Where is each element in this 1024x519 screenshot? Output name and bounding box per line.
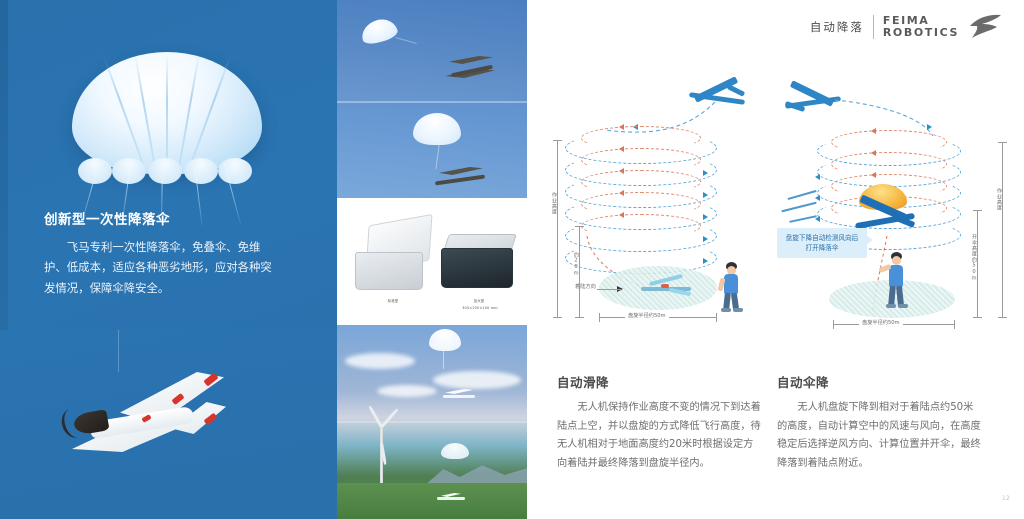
container-box-large: [441, 234, 519, 296]
parachute-illustration: [52, 52, 282, 227]
drone-in-flight-photo: 11: [0, 330, 337, 519]
section-body-parachute: 无人机盘旋下降到相对于着陆点约50米的高度，自动计算空中的风速与风向，在高度稳定…: [777, 399, 983, 473]
drone-illustration: [54, 368, 234, 463]
left-text-block: 创新型一次性降落伞 飞马专利一次性降落伞，免叠伞、免维护、低成本，适应各种恶劣地…: [44, 208, 274, 298]
left-page: 创新型一次性降落伞 飞马专利一次性降落伞，免叠伞、免维护、低成本，适应各种恶劣地…: [0, 0, 527, 519]
brand-divider: [873, 15, 874, 39]
parachute-container-photo: 标准型 加大型 300×200×100 mm: [337, 198, 527, 325]
field-landing-photo: [337, 325, 527, 519]
feima-wing-mark-icon: [968, 14, 1002, 40]
photo-column: 标准型 加大型 300×200×100 mm: [337, 0, 527, 519]
section-auto-glide: 自动滑降 无人机保持作业高度不变的情况下到达着陆点上空，并以盘旋的方式降低飞行高…: [557, 372, 763, 473]
section-heading-glide: 自动滑降: [557, 372, 763, 391]
brand-en-line2: ROBOTICS: [883, 27, 959, 39]
right-page: 自动降落 FEIMA ROBOTICS: [527, 0, 1024, 519]
container-caption-right: 加大型: [449, 298, 509, 303]
brochure-spread: 创新型一次性降落伞 飞马专利一次性降落伞，免叠伞、免维护、低成本，适应各种恶劣地…: [0, 0, 1024, 519]
brand-cn-label: 自动降落: [810, 19, 864, 35]
glide-work-height-label: 作业高度: [551, 192, 558, 215]
section-auto-parachute: 自动伞降 无人机盘旋下降到相对于着陆点约50米的高度，自动计算空中的风速与风向，…: [777, 372, 983, 473]
glide-low-height-label: 约20m: [573, 252, 580, 277]
brand-en-label: FEIMA ROBOTICS: [883, 15, 959, 40]
parachute-callout: 盘旋下降自动检测风向后打开降落伞: [777, 228, 867, 258]
parachute-canopy: [72, 52, 262, 174]
auto-parachute-diagram: 盘旋下降自动检测风向后打开降落伞 作业高度: [777, 84, 1017, 334]
left-title: 创新型一次性降落伞: [44, 208, 274, 228]
auto-glide-diagram: 着陆方向 作业高度 约20m 盘旋半径约50m: [547, 84, 775, 334]
glide-radius-label: 盘旋半径约50m: [625, 312, 669, 319]
container-caption-left: 标准型: [363, 298, 423, 303]
section-heading-parachute: 自动伞降: [777, 372, 983, 391]
brand-header: 自动降落 FEIMA ROBOTICS: [810, 14, 1002, 40]
section-body-glide: 无人机保持作业高度不变的情况下到达着陆点上空，并以盘旋的方式降低飞行高度，待无人…: [557, 399, 763, 473]
person-figure-left: [717, 262, 747, 314]
container-caption-spec: 300×200×100 mm: [441, 306, 519, 310]
parachute-open-photo: [337, 101, 527, 198]
container-box-standard: [353, 220, 433, 294]
parachute-open-height-label: 开伞高度约50m: [971, 234, 978, 282]
left-body: 飞马专利一次性降落伞，免叠伞、免维护、低成本，适应各种恶劣地形，应对各种突发情况…: [44, 237, 274, 298]
landing-plane-icon: [639, 276, 697, 302]
person-figure-right: [881, 252, 913, 312]
page-number-right: 12: [1002, 494, 1010, 502]
parachute-radius-label: 盘旋半径约50m: [859, 319, 903, 326]
parachute-deploy-photo: [337, 0, 527, 101]
parachute-work-height-label: 作业高度: [996, 188, 1003, 211]
